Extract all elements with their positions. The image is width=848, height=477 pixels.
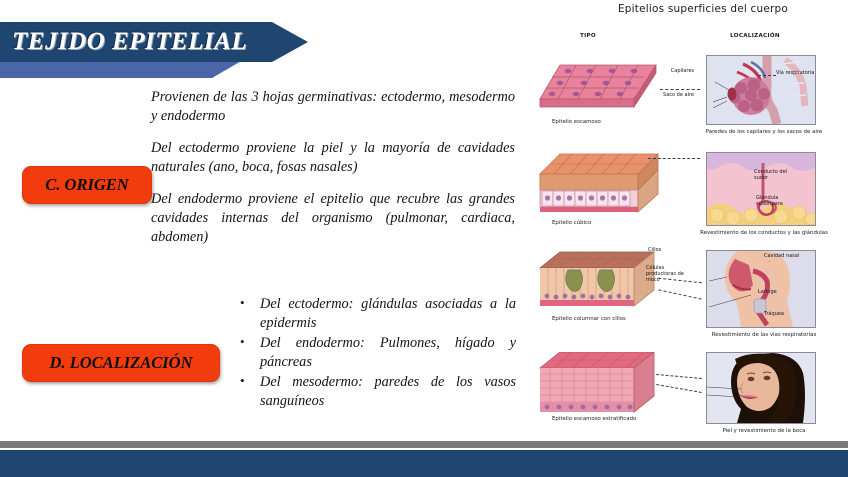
figure-row-escamoso-estratificado: Epitelio escamoso estratificado xyxy=(520,352,848,440)
callout-cavidad-nasal: Cavidad nasal xyxy=(764,254,814,260)
page-title: TEJIDO EPITELIAL xyxy=(0,28,247,56)
figure-epitelios: Epitelios superficies del cuerpo TIPO LO… xyxy=(520,0,848,445)
diagram-conductos-glandulas xyxy=(707,153,815,225)
figure-localizacion-image xyxy=(706,352,816,424)
diagram-epitelio-cubico xyxy=(538,152,688,218)
diagram-epitelio-escamoso xyxy=(538,55,688,117)
figure-row-escamoso: Epitelio escamoso xyxy=(520,55,848,135)
figure-tipo-caption: Epitelio escamoso estratificado xyxy=(538,416,688,422)
status-badge-origen: C. ORIGEN xyxy=(22,166,152,204)
slide-canvas: TEJIDO EPITELIAL Provienen de las 3 hoja… xyxy=(0,0,848,477)
paragraph-origen-1: Provienen de las 3 hojas germinativas: e… xyxy=(151,88,515,126)
figure-tipo-caption: Epitelio escamoso xyxy=(538,119,688,125)
figure-localizacion-caption: Revestimiento de las vías respiratorias xyxy=(698,332,830,338)
figure-row-cubico: Epitelio cúbico xyxy=(520,152,848,242)
callout-via-respiratoria: Vía respiratoria xyxy=(776,71,830,77)
figure-title: Epitelios superficies del cuerpo xyxy=(578,3,828,15)
figure-row-columnar: Epitelio columnar con cilios Cilios Célu… xyxy=(520,250,848,345)
figure-tipo-caption: Epitelio columnar con cilios xyxy=(538,316,688,322)
diagram-capilares-sacos-aire xyxy=(707,56,815,124)
figure-localizacion-image xyxy=(706,55,816,125)
svg-text:·: · xyxy=(769,259,771,265)
callout-laringe: Laringe xyxy=(758,290,798,296)
paragraph-origen-2: Del ectodermo proviene la piel y la mayo… xyxy=(151,139,515,177)
diagram-epitelio-escamoso-estratificado xyxy=(538,352,688,424)
figure-tipo-cell: Epitelio escamoso estratificado xyxy=(538,352,688,429)
diagram-epitelio-columnar-cilios xyxy=(538,250,688,324)
paragraph-origen-3: Del endodermo proviene el epitelio que r… xyxy=(151,190,515,247)
status-badge-localizacion: D. LOCALIZACIÓN xyxy=(22,344,220,382)
callout-glandula-sudoripara: Glándula sudorípara xyxy=(756,196,802,208)
callout-conducto-del-sudor: Conducto del sudor xyxy=(754,170,800,182)
figure-tipo-cell: Epitelio cúbico xyxy=(538,152,688,223)
callout-traquea: Tráquea xyxy=(764,312,804,318)
badge-label: D. LOCALIZACIÓN xyxy=(49,353,192,373)
footer-gray-bar xyxy=(0,441,848,448)
callout-capilares: Capilares xyxy=(654,69,694,75)
figure-tipo-caption: Epitelio cúbico xyxy=(538,220,688,226)
figure-localizacion-image xyxy=(706,152,816,226)
figure-column-header-tipo: TIPO xyxy=(558,33,618,39)
diagram-piel-boca xyxy=(707,353,815,423)
figure-tipo-cell: Epitelio columnar con cilios Cilios Célu… xyxy=(538,250,688,329)
figure-localizacion-caption: Revestimiento de los conductos y las glá… xyxy=(698,230,830,236)
figure-column-header-localizacion: LOCALIZACIÓN xyxy=(695,33,815,39)
list-item: Del mesodermo: paredes de los vasos sang… xyxy=(236,373,516,411)
slide-title-banner: TEJIDO EPITELIAL xyxy=(0,22,308,62)
badge-label: C. ORIGEN xyxy=(45,175,128,195)
callout-saco-de-aire: Saco de aire xyxy=(656,93,694,99)
figure-localizacion-caption: Paredes de los capilares y los sacos de … xyxy=(698,129,830,135)
footer-navy-bar xyxy=(0,450,848,477)
callout-cilios: Cilios xyxy=(648,248,682,254)
list-item: Del ectodermo: glándulas asociadas a la … xyxy=(236,295,516,333)
figure-localizacion-caption: Piel y revestimiento de la boca xyxy=(698,428,830,434)
localizacion-bullet-list: Del ectodermo: glándulas asociadas a la … xyxy=(236,295,516,412)
list-item: Del endodermo: Pulmones, hígado y páncre… xyxy=(236,334,516,372)
